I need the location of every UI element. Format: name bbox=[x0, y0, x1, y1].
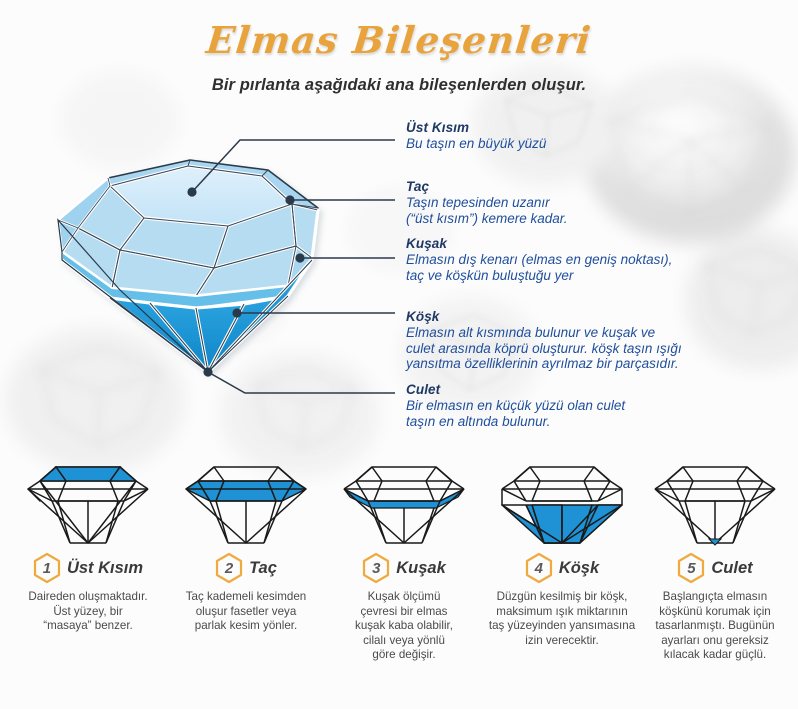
callout-ust-kisim: Üst Kısım Bu taşın en büyük yüzü bbox=[406, 120, 546, 152]
part-name: Taç bbox=[249, 559, 277, 578]
part-caption: Düzgün kesilmiş bir köşk, maksimum ışık … bbox=[482, 586, 642, 648]
part-number: 1 bbox=[33, 553, 61, 583]
diamond-icon-table bbox=[8, 455, 168, 550]
parts-row: 1 Üst Kısım Daireden oluşmaktadır. Üst y… bbox=[0, 450, 798, 709]
callout-body: Taşın tepesinden uzanır (“üst kısım”) ke… bbox=[406, 195, 568, 226]
part-caption: Taç kademeli kesimden oluşur fasetler ve… bbox=[166, 586, 326, 634]
page-title: Elmas Bileşenleri bbox=[0, 18, 798, 62]
callout-kusak: Kuşak Elmasın dış kenarı (elmas en geniş… bbox=[406, 236, 672, 283]
callout-title: Üst Kısım bbox=[406, 120, 546, 135]
callout-body: Elmasın alt kısmında bulunur ve kuşak ve… bbox=[406, 325, 682, 372]
part-label-3: 3 Kuşak bbox=[324, 550, 484, 586]
part-name: Culet bbox=[711, 559, 752, 578]
part-cell-5[interactable]: 5 Culet Başlangıçta elmasın köşkünü koru… bbox=[635, 450, 795, 709]
part-caption: Kuşak ölçümü çevresi bir elmas kuşak kab… bbox=[324, 586, 484, 663]
callout-body: Bir elmasın en küçük yüzü olan culet taş… bbox=[406, 398, 625, 429]
callout-title: Taç bbox=[406, 179, 568, 194]
header: Elmas Bileşenleri Bir pırlanta aşağıdaki… bbox=[0, 0, 798, 95]
part-label-2: 2 Taç bbox=[166, 550, 326, 586]
crown-highlight bbox=[186, 481, 306, 501]
page-subtitle: Bir pırlanta aşağıdaki ana bileşenlerden… bbox=[0, 76, 798, 95]
callout-title: Köşk bbox=[406, 309, 682, 324]
callout-body: Elmasın dış kenarı (elmas en geniş nokta… bbox=[406, 252, 672, 283]
part-number: 2 bbox=[215, 553, 243, 583]
diamond-icon-culet bbox=[635, 455, 795, 550]
hexagon-badge-icon: 5 bbox=[677, 553, 705, 583]
part-cell-1[interactable]: 1 Üst Kısım Daireden oluşmaktadır. Üst y… bbox=[8, 450, 168, 709]
diamond-icon-pavilion bbox=[482, 455, 642, 550]
callout-culet: Culet Bir elmasın en küçük yüzü olan cul… bbox=[406, 382, 625, 429]
diamond-icon-girdle bbox=[324, 455, 484, 550]
callout-tac: Taç Taşın tepesinden uzanır (“üst kısım”… bbox=[406, 179, 568, 226]
part-caption: Başlangıçta elmasın köşkünü korumak için… bbox=[635, 586, 795, 663]
part-name: Üst Kısım bbox=[67, 559, 143, 578]
callout-title: Culet bbox=[406, 382, 625, 397]
callout-title: Kuşak bbox=[406, 236, 672, 251]
callout-kosk: Köşk Elmasın alt kısmında bulunur ve kuş… bbox=[406, 309, 682, 372]
part-label-5: 5 Culet bbox=[635, 550, 795, 586]
part-number: 3 bbox=[362, 553, 390, 583]
main-diamond-diagram bbox=[0, 100, 798, 450]
part-cell-4[interactable]: 4 Köşk Düzgün kesilmiş bir köşk, maksimu… bbox=[482, 450, 642, 709]
part-label-1: 1 Üst Kısım bbox=[8, 550, 168, 586]
diamond-icon-crown bbox=[166, 455, 326, 550]
part-number: 4 bbox=[525, 553, 553, 583]
hexagon-badge-icon: 4 bbox=[525, 553, 553, 583]
part-number: 5 bbox=[677, 553, 705, 583]
hexagon-badge-icon: 2 bbox=[215, 553, 243, 583]
part-label-4: 4 Köşk bbox=[482, 550, 642, 586]
part-name: Kuşak bbox=[396, 559, 446, 578]
part-cell-3[interactable]: 3 Kuşak Kuşak ölçümü çevresi bir elmas k… bbox=[324, 450, 484, 709]
hexagon-badge-icon: 1 bbox=[33, 553, 61, 583]
callout-body: Bu taşın en büyük yüzü bbox=[406, 136, 546, 152]
hexagon-badge-icon: 3 bbox=[362, 553, 390, 583]
part-name: Köşk bbox=[559, 559, 599, 578]
part-caption: Daireden oluşmaktadır. Üst yüzey, bir “m… bbox=[8, 586, 168, 634]
part-cell-2[interactable]: 2 Taç Taç kademeli kesimden oluşur faset… bbox=[166, 450, 326, 709]
